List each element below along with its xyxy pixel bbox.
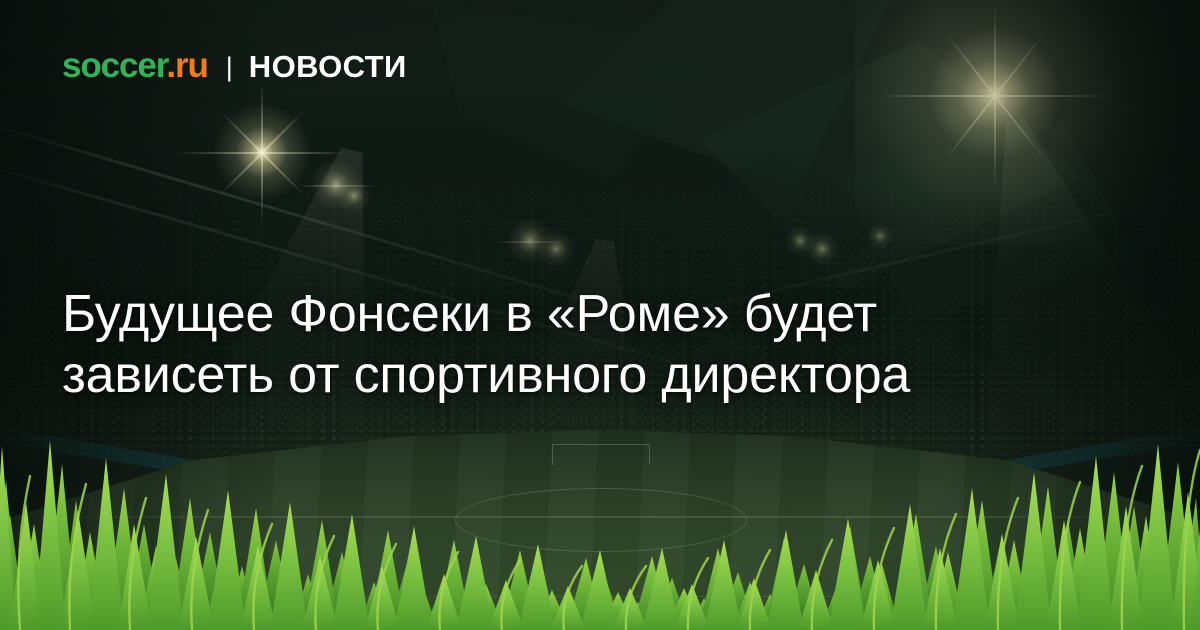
site-header: soccer.ru | НОВОСТИ (62, 48, 407, 83)
headline-line-2: зависеть от спортивного директора (62, 345, 1132, 406)
section-label-news[interactable]: НОВОСТИ (249, 51, 407, 82)
header-separator: | (226, 54, 233, 81)
logo-name: soccer (62, 46, 166, 85)
grass-foreground (0, 440, 1200, 630)
logo-tld: .ru (166, 46, 207, 85)
share-card: soccer.ru | НОВОСТИ Будущее Фонсеки в «Р… (0, 0, 1200, 630)
headline-line-1: Будущее Фонсеки в «Роме» будет (62, 284, 1132, 345)
soccer-ru-logo[interactable]: soccer.ru (62, 48, 208, 83)
article-headline: Будущее Фонсеки в «Роме» будет зависеть … (62, 284, 1132, 406)
grass-row-front (0, 440, 1200, 630)
